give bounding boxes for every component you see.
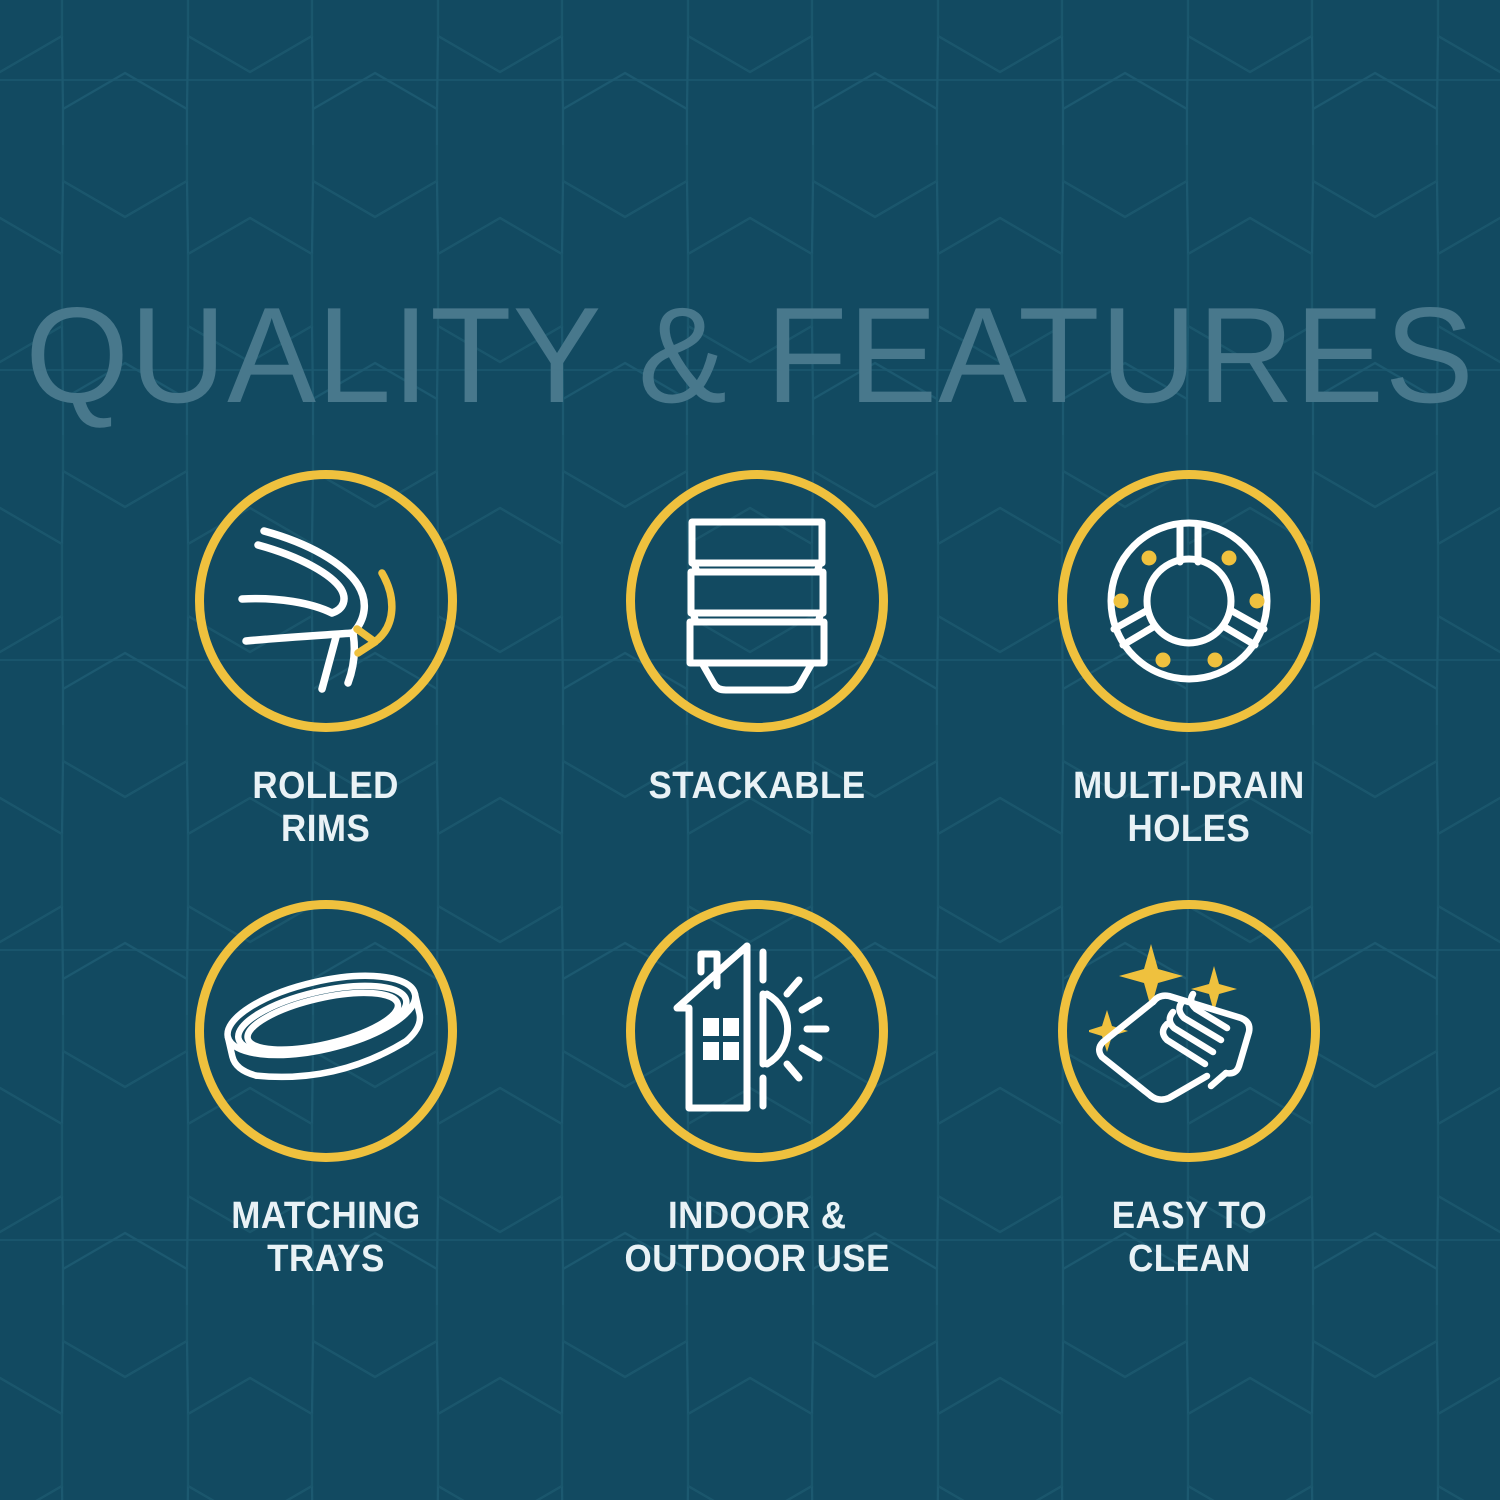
- feature-label-indoor-outdoor-use: INDOOR & OUTDOOR USE: [625, 1195, 890, 1280]
- easy-to-clean-badge: [1058, 900, 1320, 1162]
- indoor-outdoor-badge: [626, 900, 888, 1162]
- feature-matching-trays: MATCHING TRAYS: [110, 900, 542, 1330]
- window-panes: [703, 1018, 739, 1060]
- rolled-rims-badge: [195, 470, 457, 732]
- page-title: QUALITY & FEATURES: [15, 287, 1485, 423]
- stackable-badge: [626, 470, 888, 732]
- feature-rolled-rims: ROLLED RIMS: [110, 470, 542, 900]
- hand-wiping-sparkle-icon: [1089, 936, 1289, 1126]
- house-sun-icon: [659, 936, 855, 1126]
- feature-label-multi-drain-holes: MULTI-DRAIN HOLES: [1073, 765, 1305, 850]
- feature-indoor-outdoor-use: INDOOR & OUTDOOR USE: [542, 900, 974, 1330]
- multi-drain-holes-badge: [1058, 470, 1320, 732]
- feature-grid: ROLLED RIMS: [110, 470, 1405, 1330]
- feature-label-matching-trays: MATCHING TRAYS: [231, 1195, 420, 1280]
- feature-stackable: STACKABLE: [542, 470, 974, 900]
- rolled-rim-icon: [226, 501, 426, 701]
- stacked-pots-icon: [662, 506, 852, 696]
- drain-hole-dots: [1114, 551, 1265, 668]
- feature-label-rolled-rims: ROLLED RIMS: [253, 765, 399, 850]
- feature-multi-drain-holes: MULTI-DRAIN HOLES: [973, 470, 1405, 900]
- infographic-canvas: QUALITY & FEATURES: [0, 0, 1500, 1500]
- saucer-tray-icon: [218, 931, 433, 1131]
- drain-holes-icon: [1096, 508, 1282, 694]
- matching-trays-badge: [195, 900, 457, 1162]
- feature-label-stackable: STACKABLE: [649, 765, 866, 808]
- feature-label-easy-to-clean: EASY TO CLEAN: [1111, 1195, 1266, 1280]
- feature-easy-to-clean: EASY TO CLEAN: [973, 900, 1405, 1330]
